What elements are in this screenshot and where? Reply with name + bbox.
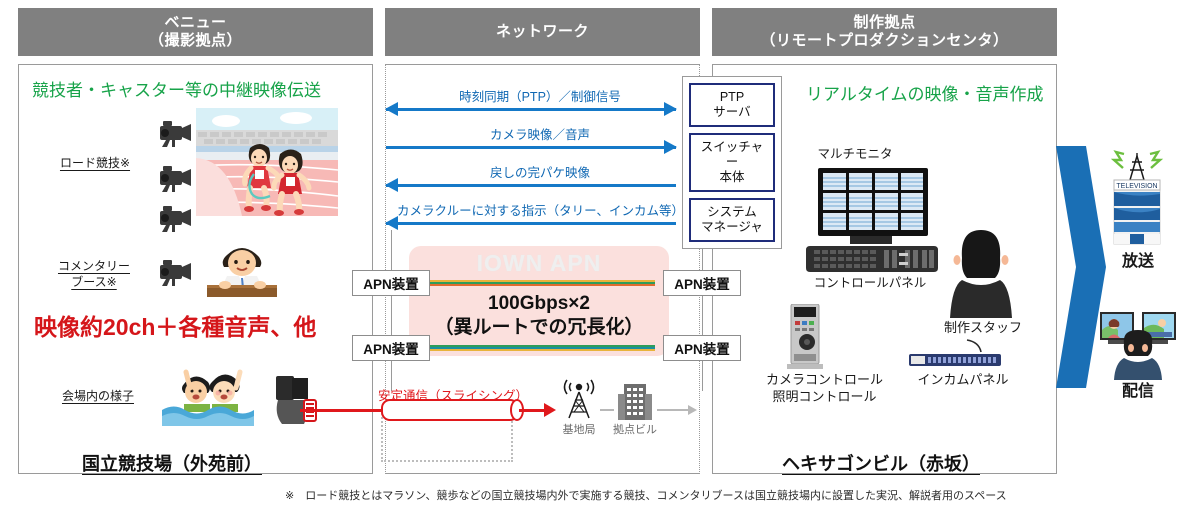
fiber-link-lower xyxy=(430,345,655,351)
device-switcher: スイッチャー 本体 xyxy=(689,133,775,192)
label-control-panel: コントロールパネル xyxy=(790,275,950,291)
diagram-canvas: ベニュー （撮影拠点） ネットワーク 制作拠点 （リモートプロダクションセンタ）… xyxy=(0,0,1200,510)
connector-venue-mid xyxy=(391,296,392,335)
mobile-link-line-1 xyxy=(600,409,614,411)
iown-apn-title: IOWN APN xyxy=(409,250,669,277)
label-venue-scene: 会場内の様子 xyxy=(48,388,148,404)
output-chevron-arrow xyxy=(1056,146,1106,388)
staff-illustration xyxy=(948,228,1014,318)
hub-building-icon xyxy=(614,380,656,424)
header-network-label: ネットワーク xyxy=(496,23,589,41)
commentator-illustration xyxy=(205,235,279,297)
venue-green-title: 競技者・キャスター等の中継映像伝送 xyxy=(32,76,321,101)
channels-note: 映像約20ch＋各種音声、他 xyxy=(34,308,316,342)
label-camera-control: カメラコントロール 照明コントロール xyxy=(752,372,897,406)
slicing-red-output-line xyxy=(519,409,545,412)
studio-green-title: リアルタイムの映像・音声作成 xyxy=(806,80,1044,105)
connector-studio-lower-bottom xyxy=(702,361,703,391)
header-network: ネットワーク xyxy=(385,8,700,56)
label-commentary-booth: コメンタリー ブース※ xyxy=(34,258,154,290)
camera-icon-road-3 xyxy=(152,203,196,233)
hub-building-label: 拠点ビル xyxy=(600,423,670,437)
apn-device-studio-lower: APN装置 xyxy=(663,335,741,361)
footnote: ※ ロード競技とはマラソン、競歩などの国立競技場内外で実施する競技、コメンタリブ… xyxy=(285,487,1007,503)
label-road-race: ロード競技※ xyxy=(40,155,150,171)
road-race-illustration xyxy=(196,108,338,216)
label-staff: 制作スタッフ xyxy=(938,320,1028,337)
tv-station-icon: TELEVISION xyxy=(1106,150,1168,250)
label-multi-monitor: マルチモニタ xyxy=(790,146,920,162)
header-studio: 制作拠点 （リモートプロダクションセンタ） xyxy=(712,8,1057,56)
arrow-ptp-control xyxy=(386,102,676,116)
slicing-red-arrowhead xyxy=(544,403,556,417)
connector-venue-upper-top xyxy=(391,230,392,270)
arrow-return-program xyxy=(386,178,676,192)
mobile-camera-operator-icon xyxy=(268,372,324,428)
streaming-icon xyxy=(1100,312,1176,380)
header-venue-label: ベニュー （撮影拠点） xyxy=(149,14,242,51)
iown-apn-zone: IOWN APN 100Gbps×2 （異ルートでの冗長化） xyxy=(409,246,669,356)
apn-device-venue-upper: APN装置 xyxy=(352,270,430,296)
label-broadcast: 放送 xyxy=(1102,252,1174,273)
device-system-manager: システム マネージャ xyxy=(689,198,775,242)
iown-apn-capacity: 100Gbps×2 （異ルートでの冗長化） xyxy=(409,292,669,339)
intercom-panel-icon xyxy=(905,338,1005,370)
base-station-icon xyxy=(556,378,602,424)
slicing-pipe xyxy=(381,399,519,421)
venue-site-name: 国立競技場（外苑前） xyxy=(82,450,262,476)
arrow-crew-instructions xyxy=(386,216,676,230)
connector-studio-mid xyxy=(702,296,703,335)
fiber-link-upper xyxy=(430,280,655,286)
multi-monitor-icon xyxy=(818,168,928,238)
apn-device-venue-lower: APN装置 xyxy=(352,335,430,361)
label-streaming: 配信 xyxy=(1102,382,1174,403)
tv-building-text: TELEVISION xyxy=(1116,183,1157,190)
camera-control-unit-icon xyxy=(785,304,825,370)
arrow-camera-video-audio xyxy=(386,140,676,154)
device-ptp-server: PTP サーバ xyxy=(689,83,775,127)
control-panel-icon xyxy=(806,236,938,274)
studio-site-name: ヘキサゴンビル（赤坂） xyxy=(782,450,980,476)
header-studio-label: 制作拠点 （リモートプロダクションセンタ） xyxy=(760,14,1008,51)
spectators-illustration xyxy=(162,366,254,426)
camera-icon-road-2 xyxy=(152,163,196,193)
studio-device-stack: PTP サーバ スイッチャー 本体 システム マネージャ xyxy=(682,76,782,249)
header-venue: ベニュー （撮影拠点） xyxy=(18,8,373,56)
camera-icon-commentary xyxy=(152,257,196,287)
camera-icon-road-1 xyxy=(152,118,196,148)
mobile-link-arrowhead xyxy=(688,405,697,415)
label-intercom-panel: インカムパネル xyxy=(908,372,1018,389)
mobile-link-line-2 xyxy=(657,409,689,411)
apn-device-studio-upper: APN装置 xyxy=(663,270,741,296)
slicing-red-input-line xyxy=(300,409,386,412)
